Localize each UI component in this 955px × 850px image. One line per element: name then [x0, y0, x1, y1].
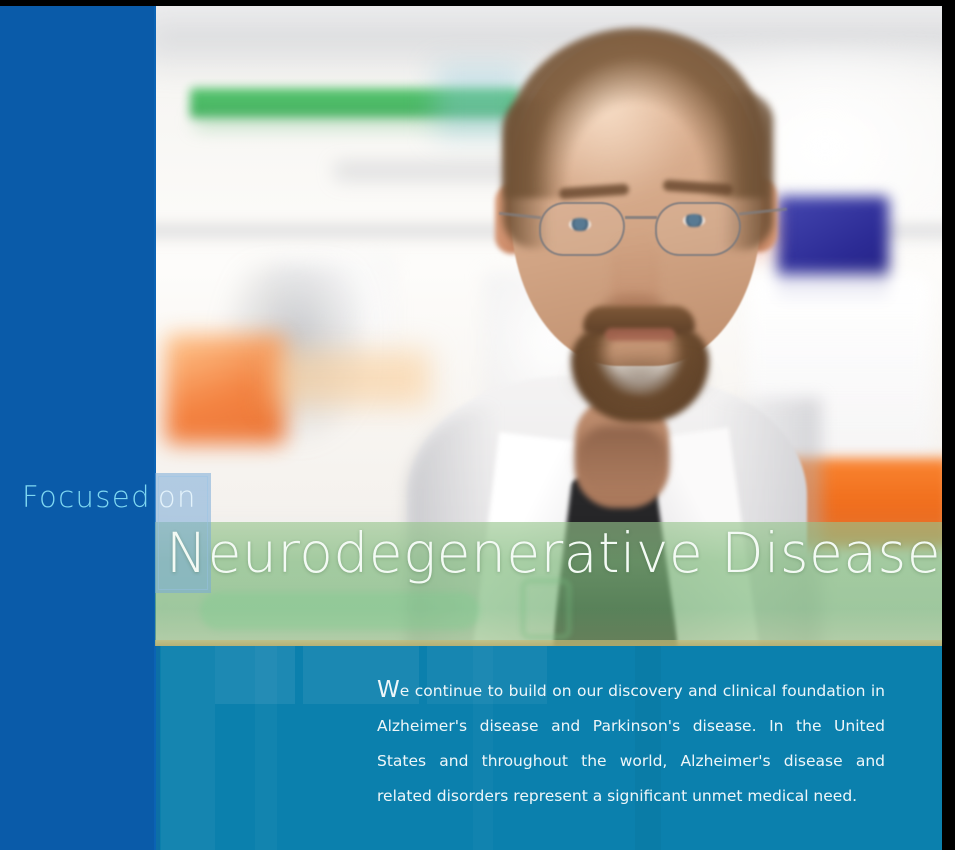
- intro-text-panel: We continue to build on our discovery an…: [155, 646, 942, 850]
- headline-eyebrow: Focusedon: [22, 480, 197, 514]
- chin-shading: [565, 356, 715, 412]
- intro-paragraph-dropcap: W: [377, 677, 400, 703]
- green-band-shape-pill: [200, 592, 480, 630]
- ghost-band-5: [255, 646, 277, 850]
- frame-bar-right: [942, 0, 955, 850]
- headline-eyebrow-word-focused: Focused: [22, 480, 151, 514]
- intro-paragraph-text: e continue to build on our discovery and…: [377, 682, 885, 805]
- photo-bottom-rule: [155, 640, 942, 646]
- left-blue-column: [0, 6, 156, 850]
- eyeglass-bridge: [625, 216, 657, 219]
- green-band-shape-square: [520, 578, 572, 640]
- eyeglasses: [533, 198, 755, 262]
- page-root: Focusedon Neurodegenerative Diseases We …: [0, 0, 955, 850]
- eyeglass-lens-left: [539, 202, 625, 256]
- eyeglass-lens-right: [655, 202, 741, 256]
- frame-bar-top: [0, 0, 955, 6]
- neck-shadow: [575, 426, 669, 492]
- intro-paragraph: We continue to build on our discovery an…: [377, 674, 885, 814]
- ghost-band-1: [161, 646, 215, 850]
- lips: [605, 328, 675, 341]
- headline-eyebrow-word-on: on: [158, 480, 197, 514]
- headline-main: Neurodegenerative Diseases: [166, 521, 955, 585]
